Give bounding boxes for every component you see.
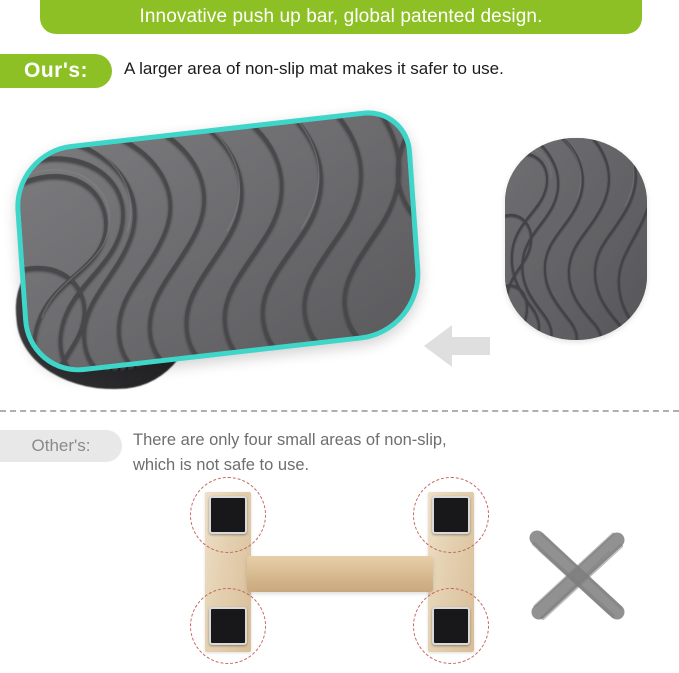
section-divider [0, 410, 679, 412]
others-badge: Other's: [0, 430, 122, 462]
ours-description: A larger area of non-slip mat makes it s… [124, 59, 504, 79]
ours-badge-label: Our's: [24, 59, 88, 83]
arrow-left-icon [424, 322, 490, 370]
wooden-push-up-bar [185, 480, 500, 665]
ours-badge: Our's: [0, 54, 112, 88]
large-non-slip-mat [11, 106, 424, 379]
bar-handle [247, 556, 433, 592]
header-title: Innovative push up bar, global patented … [140, 6, 543, 28]
highlight-circle-bottom-left [190, 588, 266, 664]
large-mat-assembly [8, 110, 428, 395]
x-mark-icon [521, 528, 633, 624]
header-banner: Innovative push up bar, global patented … [40, 0, 642, 34]
highlight-circle-bottom-right [413, 588, 489, 664]
others-description: There are only four small areas of non-s… [133, 428, 447, 478]
ours-product-visual [0, 100, 679, 400]
others-heading-row: Other's: There are only four small areas… [0, 428, 679, 486]
mat-wave-texture [17, 111, 420, 373]
standard-non-slip-pad [505, 138, 647, 340]
ours-heading-row: Our's: A larger area of non-slip mat mak… [0, 54, 679, 90]
highlight-circle-top-left [190, 477, 266, 553]
highlight-circle-top-right [413, 477, 489, 553]
others-badge-label: Other's: [32, 436, 91, 456]
